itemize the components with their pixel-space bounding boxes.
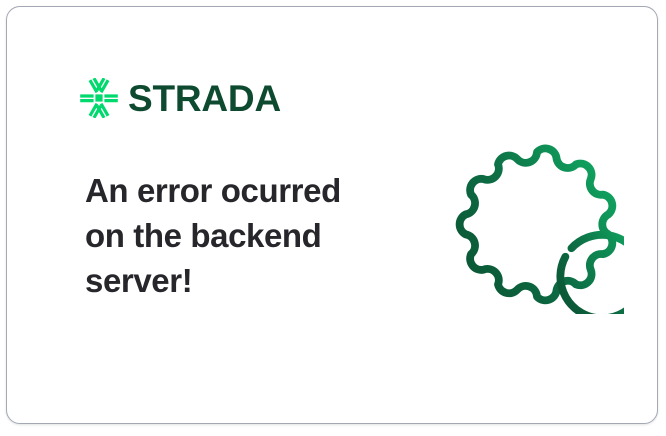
brand-lockup: STRADA — [79, 75, 281, 121]
error-message: An error ocurred on the backend server! — [85, 169, 385, 304]
strada-asterisk-icon — [79, 78, 119, 118]
brand-wordmark: STRADA — [128, 80, 281, 117]
error-card: STRADA An error ocurred on the backend s… — [6, 6, 658, 424]
gear-outline-icon — [450, 140, 624, 314]
